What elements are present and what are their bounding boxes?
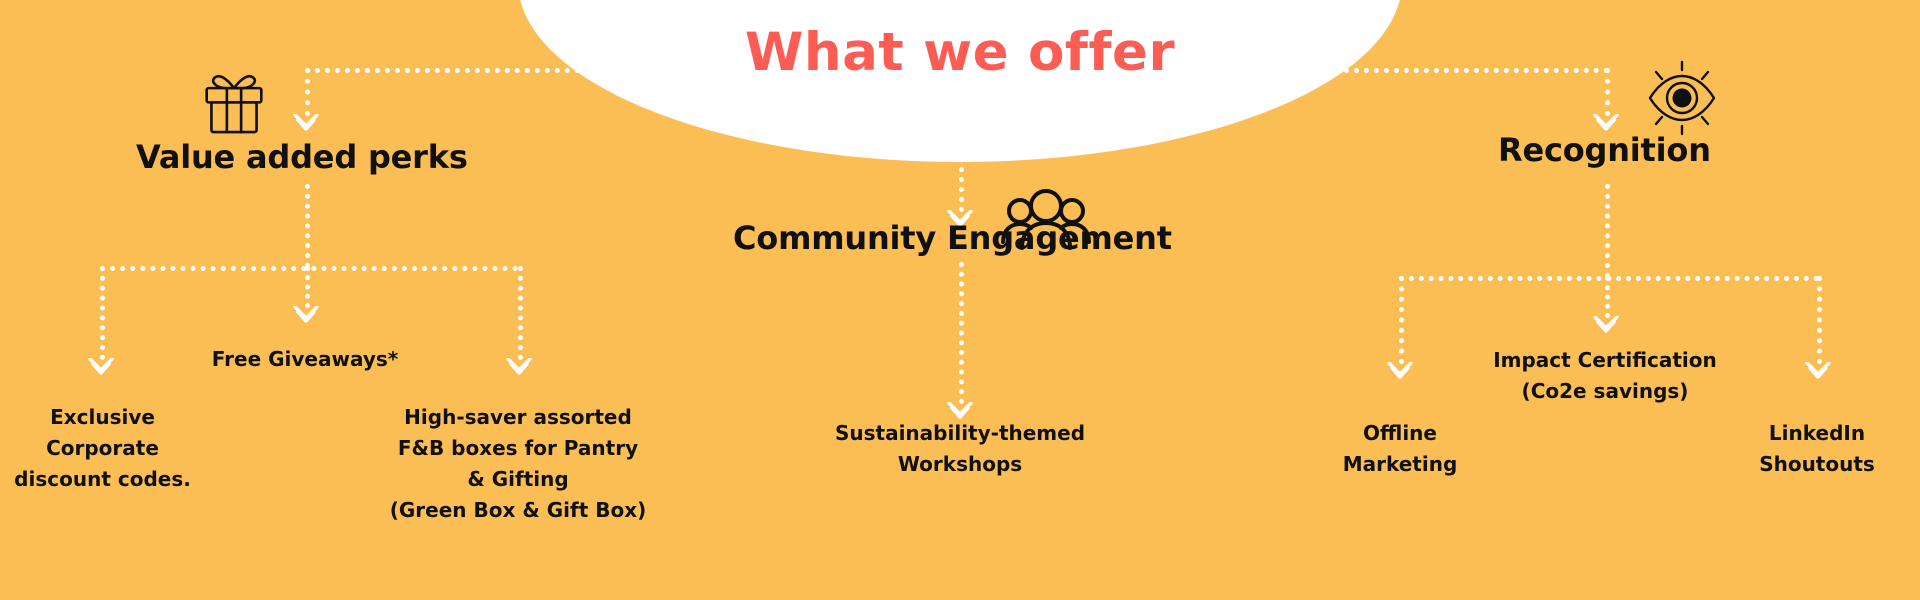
gift-icon <box>196 62 272 138</box>
arrow-down-high-saver-boxes <box>506 358 532 376</box>
arrow-down-value-added-perks <box>293 114 319 132</box>
pillar-title-community-engagement: Community Engagement <box>733 219 1172 257</box>
connector-recognition-stem <box>1605 184 1610 278</box>
leaf-exclusive-corporate-discount-codes: ExclusiveCorporatediscount codes. <box>0 402 205 495</box>
leaf-free-giveaways: Free Giveaways* <box>180 344 430 375</box>
eye-icon <box>1640 56 1724 140</box>
offer-infographic: What we offer Value added perks Exclusiv… <box>0 0 1920 600</box>
arrow-down-free-giveaways <box>293 306 319 324</box>
connector-recognition-leaf2 <box>1605 276 1610 318</box>
leaf-high-saver-fnb-boxes: High-saver assortedF&B boxes for Pantry&… <box>338 402 698 526</box>
connector-perks-leaf3 <box>518 266 523 360</box>
arrow-down-recognition <box>1593 114 1619 132</box>
arrow-down-exclusive-discount <box>88 358 114 376</box>
page-title: What we offer <box>518 26 1402 79</box>
connector-recognition-leaf3 <box>1817 276 1822 364</box>
arrow-down-offline-marketing <box>1387 362 1413 380</box>
connector-recognition-leaf1 <box>1399 276 1404 364</box>
leaf-sustainability-themed-workshops: Sustainability-themedWorkshops <box>800 418 1120 480</box>
arrow-down-impact-certification <box>1593 316 1619 334</box>
connector-left-down <box>305 68 310 116</box>
arrow-down-linkedin-shoutouts <box>1805 362 1831 380</box>
leaf-offline-marketing: OfflineMarketing <box>1285 418 1515 480</box>
connector-perks-leaf2 <box>305 266 310 308</box>
connector-right-down <box>1605 68 1610 116</box>
connector-perks-leaf1 <box>100 266 105 360</box>
connector-perks-stem <box>305 184 310 268</box>
pillar-title-recognition: Recognition <box>1498 131 1711 169</box>
pillar-title-value-added-perks: Value added perks <box>136 138 468 176</box>
leaf-impact-certification: Impact Certification(Co2e savings) <box>1465 345 1745 407</box>
connector-community-stem <box>959 262 964 404</box>
leaf-linkedin-shoutouts: LinkedInShoutouts <box>1702 418 1920 480</box>
